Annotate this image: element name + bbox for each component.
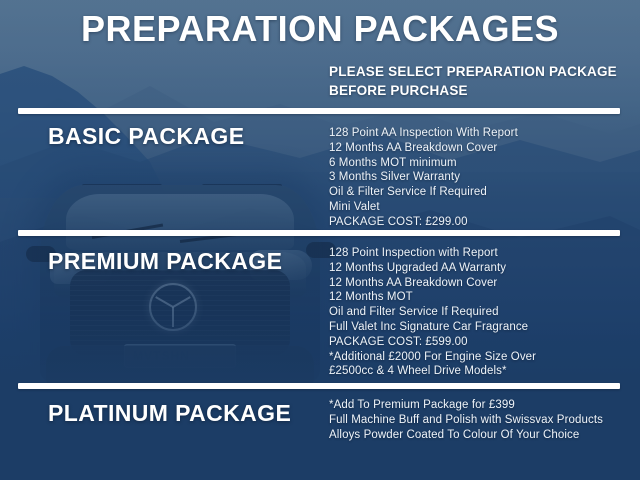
instruction-line-2: BEFORE PURCHASE (329, 81, 617, 100)
package-items-platinum: *Add To Premium Package for £399 Full Ma… (329, 398, 603, 442)
package-items-basic: 128 Point AA Inspection With Report 12 M… (329, 126, 518, 230)
list-item: 12 Months AA Breakdown Cover (329, 276, 536, 291)
package-heading-platinum: PLATINUM PACKAGE (48, 400, 291, 427)
list-item: Full Machine Buff and Polish with Swissv… (329, 413, 603, 428)
list-item: 128 Point AA Inspection With Report (329, 126, 518, 141)
instruction-text: PLEASE SELECT PREPARATION PACKAGE BEFORE… (329, 62, 617, 100)
list-item: Oil & Filter Service If Required (329, 185, 518, 200)
list-item: PACKAGE COST: £599.00 (329, 335, 536, 350)
list-item: 12 Months AA Breakdown Cover (329, 141, 518, 156)
list-item: Alloys Powder Coated To Colour Of Your C… (329, 428, 603, 443)
list-item: *Add To Premium Package for £399 (329, 398, 603, 413)
instruction-line-1: PLEASE SELECT PREPARATION PACKAGE (329, 62, 617, 81)
page-title: PREPARATION PACKAGES (0, 8, 640, 50)
list-item: 6 Months MOT minimum (329, 156, 518, 171)
list-item: Mini Valet (329, 200, 518, 215)
list-item: *Additional £2000 For Engine Size Over (329, 350, 536, 365)
list-item: 3 Months Silver Warranty (329, 170, 518, 185)
divider-above-premium (18, 230, 620, 236)
poster-canvas: MVTSHN PREPARATION PACKAGES PLEASE SELEC… (0, 0, 640, 480)
list-item: 12 Months MOT (329, 290, 536, 305)
divider-above-basic (18, 108, 620, 114)
divider-above-platinum (18, 383, 620, 389)
list-item: Oil and Filter Service If Required (329, 305, 536, 320)
package-items-premium: 128 Point Inspection with Report 12 Mont… (329, 246, 536, 379)
list-item: Full Valet Inc Signature Car Fragrance (329, 320, 536, 335)
list-item: 12 Months Upgraded AA Warranty (329, 261, 536, 276)
list-item: £2500cc & 4 Wheel Drive Models* (329, 364, 536, 379)
list-item: PACKAGE COST: £299.00 (329, 215, 518, 230)
package-heading-premium: PREMIUM PACKAGE (48, 248, 282, 275)
list-item: 128 Point Inspection with Report (329, 246, 536, 261)
package-heading-basic: BASIC PACKAGE (48, 123, 244, 150)
